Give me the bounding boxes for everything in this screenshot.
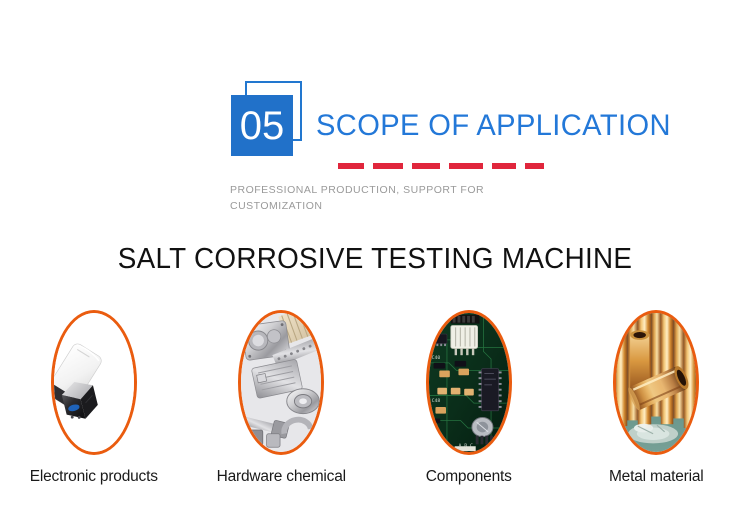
electronic-products-photo [54, 313, 134, 452]
section-heading: SCOPE OF APPLICATION [316, 109, 671, 143]
divider-dash-3 [412, 163, 440, 169]
section-subtitle: PROFESSIONAL PRODUCTION, SUPPORT FOR CUS… [230, 182, 530, 214]
application-card-list: Electronic products [0, 310, 750, 510]
application-card[interactable]: C40 C48 A B C Components [382, 310, 556, 486]
svg-text:C48: C48 [431, 398, 440, 404]
application-label: Hardware chemical [217, 468, 346, 486]
hardware-chemical-photo [241, 313, 321, 452]
section-header: 05 SCOPE OF APPLICATION PROFESSIONAL PRO… [0, 0, 750, 225]
components-photo: C40 C48 A B C [429, 313, 509, 452]
red-dash-divider [338, 163, 544, 169]
application-label: Components [426, 468, 512, 486]
metal-material-photo [616, 313, 696, 452]
page-title: SALT CORROSIVE TESTING MACHINE [15, 243, 735, 276]
divider-dash-1 [338, 163, 364, 169]
application-label: Metal material [609, 468, 704, 486]
application-image-circle[interactable] [51, 310, 137, 455]
svg-text:C40: C40 [431, 355, 440, 361]
divider-dash-2 [373, 163, 403, 169]
application-scope-slide: 05 SCOPE OF APPLICATION PROFESSIONAL PRO… [0, 0, 750, 526]
divider-dash-6 [525, 163, 544, 169]
divider-dash-5 [492, 163, 516, 169]
section-number: 05 [231, 95, 293, 156]
application-card[interactable]: Electronic products [7, 310, 181, 486]
application-label: Electronic products [30, 468, 158, 486]
application-image-circle[interactable] [238, 310, 324, 455]
application-image-circle[interactable] [613, 310, 699, 455]
application-image-circle[interactable]: C40 C48 A B C [426, 310, 512, 455]
divider-dash-4 [449, 163, 483, 169]
application-card[interactable]: Metal material [569, 310, 743, 486]
application-card[interactable]: Hardware chemical [194, 310, 368, 486]
